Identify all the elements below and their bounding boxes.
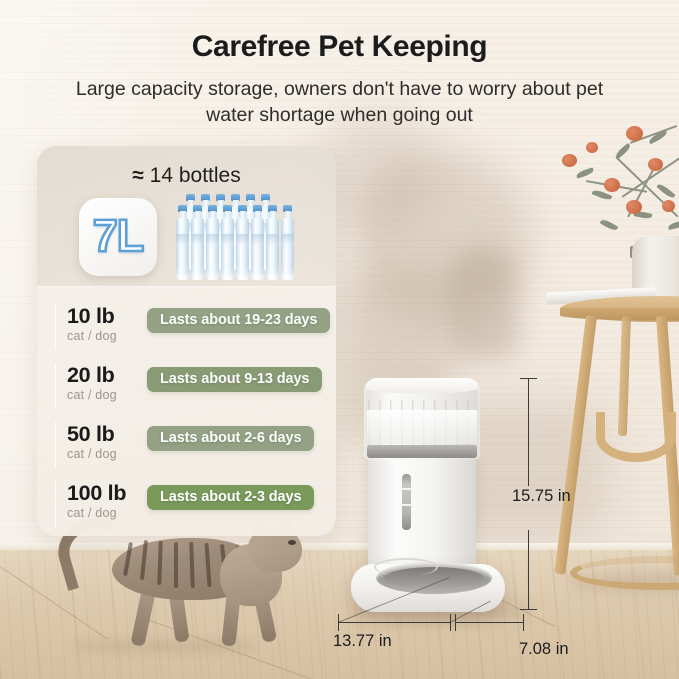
duration-badge: Lasts about 9-13 days xyxy=(147,367,322,392)
water-bottle xyxy=(280,205,295,281)
tabby-cat xyxy=(52,516,317,661)
card-divider xyxy=(37,286,336,287)
page-title: Carefree Pet Keeping xyxy=(0,30,679,64)
pet-weight-label: 50 lb xyxy=(67,422,151,447)
bottle-count-label: ≈ 14 bottles xyxy=(37,164,336,188)
bowl-lip xyxy=(374,558,438,576)
bottle-row-front xyxy=(175,205,295,281)
volume-badge-tile: 7L xyxy=(79,198,157,276)
row-rule xyxy=(55,363,56,409)
water-bottle xyxy=(235,205,250,281)
duration-badge: Lasts about 2-3 days xyxy=(147,485,314,510)
cat-eye xyxy=(288,540,296,545)
depth-dimension-label: 7.08 in xyxy=(519,640,569,659)
weight-duration-row: 100 lbcat / dogLasts about 2-3 days xyxy=(37,475,336,534)
weight-duration-row: 50 lbcat / dogLasts about 2-6 days xyxy=(37,416,336,475)
height-dim-tick-bottom xyxy=(520,609,537,610)
row-rule xyxy=(55,481,56,527)
depth-dim-tick-right xyxy=(523,614,524,631)
weight-duration-row: 20 lbcat / dogLasts about 9-13 days xyxy=(37,357,336,416)
row-rule xyxy=(55,304,56,350)
height-dim-tick-top xyxy=(520,378,537,379)
duration-badge: Lasts about 19-23 days xyxy=(147,308,330,333)
water-bottle-group xyxy=(175,194,300,282)
depth-dim-tick-left xyxy=(455,614,456,631)
flowering-branch-decor xyxy=(530,96,679,256)
water-bottle xyxy=(250,205,265,281)
side-table-brace xyxy=(596,412,676,462)
weight-duration-list: 10 lbcat / dogLasts about 19-23 days20 l… xyxy=(37,298,336,534)
feeder-water-tank xyxy=(364,378,480,460)
pet-weight-label: 20 lb xyxy=(67,363,151,388)
pet-water-feeder xyxy=(344,378,512,618)
cat-leg xyxy=(221,593,240,646)
cat-leg xyxy=(130,589,155,647)
tank-lid xyxy=(366,378,478,393)
water-bottle xyxy=(190,205,205,281)
pet-weight-label: 100 lb xyxy=(67,481,151,506)
tank-base-ring xyxy=(367,445,477,458)
volume-badge-label: 7L xyxy=(79,210,157,262)
pet-weight-label: 10 lb xyxy=(67,304,151,329)
height-dimension-label: 15.75 in xyxy=(512,487,571,506)
wall-shadow-vase xyxy=(447,248,519,360)
height-dim-line-top xyxy=(528,378,529,486)
capacity-info-card: ≈ 14 bottles 7L 10 lbcat / dogLasts abou… xyxy=(37,146,336,536)
water-bottle xyxy=(265,205,280,281)
height-dim-line-bottom xyxy=(528,530,529,610)
water-bottle xyxy=(205,205,220,281)
approx-symbol: ≈ xyxy=(132,164,144,187)
depth-dim-line xyxy=(455,622,523,623)
row-rule xyxy=(55,422,56,468)
water-bottle xyxy=(220,205,235,281)
width-dimension-label: 13.77 in xyxy=(333,632,392,651)
product-infographic: Carefree Pet Keeping Large capacity stor… xyxy=(0,0,679,679)
tank-water-level xyxy=(367,410,477,444)
water-level-window xyxy=(402,474,411,530)
weight-duration-row: 10 lbcat / dogLasts about 19-23 days xyxy=(37,298,336,357)
duration-badge: Lasts about 2-6 days xyxy=(147,426,314,451)
water-bottle xyxy=(175,205,190,281)
bottle-count-text: 14 bottles xyxy=(144,164,241,187)
width-dim-line xyxy=(338,622,450,623)
